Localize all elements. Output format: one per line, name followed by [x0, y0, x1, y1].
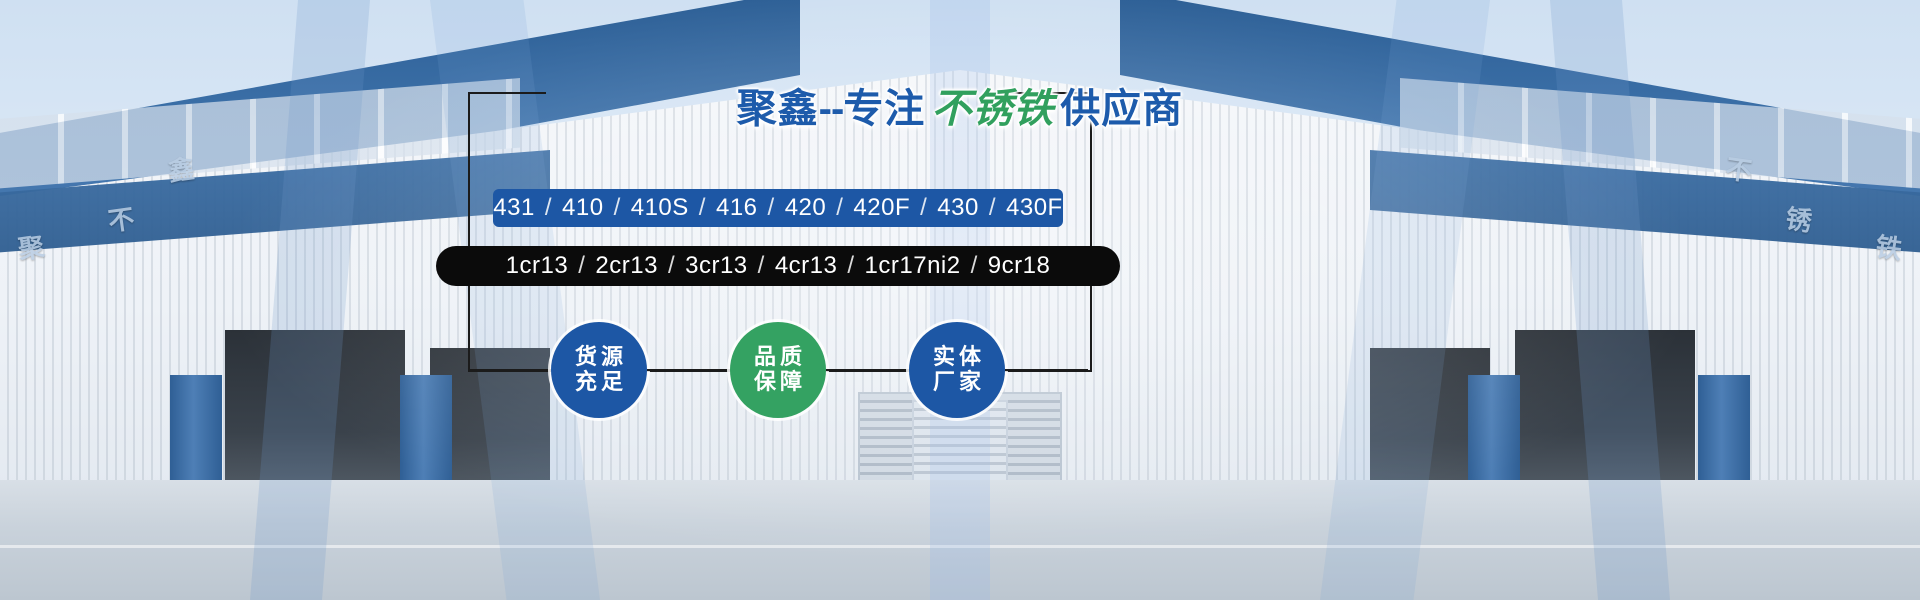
badge-real-factory[interactable]: 实体厂家 [909, 322, 1005, 418]
grade-item: 410S [631, 194, 689, 222]
grade-item: 430 [937, 194, 979, 222]
badge-line-2: 充足 [571, 370, 627, 395]
grades-bar: 431/410/410S/416/420/420F/430/430F [493, 189, 1063, 227]
badge-line-2: 厂家 [929, 370, 985, 395]
grade-item: 416 [716, 194, 758, 222]
alloys-bar: 1cr13/2cr13/3cr13/4cr13/1cr17ni2/9cr18 [436, 246, 1120, 286]
alloy-item: 9cr18 [988, 252, 1051, 280]
headline-dash: -- [819, 87, 844, 131]
separator: / [910, 194, 937, 222]
separator: / [568, 252, 595, 280]
headline-highlight: 不锈铁 [931, 87, 1054, 131]
badge-line-1: 品质 [750, 345, 806, 370]
badge-quality-guarantee[interactable]: 品质保障 [730, 322, 826, 418]
badge-line-1: 货源 [571, 345, 627, 370]
alloy-item: 1cr17ni2 [865, 252, 961, 280]
headline-focus: 专注 [843, 87, 925, 131]
badge-connector [647, 369, 730, 371]
separator: / [689, 194, 716, 222]
banner-content: 聚鑫--专注不锈铁供应商 431/410/410S/416/420/420F/4… [0, 0, 1920, 600]
separator: / [658, 252, 685, 280]
badge-ample-supply[interactable]: 货源充足 [551, 322, 647, 418]
alloy-item: 2cr13 [595, 252, 658, 280]
alloy-item: 4cr13 [775, 252, 838, 280]
alloy-item: 1cr13 [506, 252, 569, 280]
badge-line-2: 保障 [750, 370, 806, 395]
grade-item: 431 [493, 194, 535, 222]
separator: / [604, 194, 631, 222]
badge-connector [826, 369, 909, 371]
headline-brand: 聚鑫 [737, 87, 819, 131]
grade-item: 420F [853, 194, 910, 222]
promo-banner: 鑫 不 聚 不 锈 铁 聚鑫--专注不锈铁供应商 431/410/410S/41… [0, 0, 1920, 600]
grade-item: 430F [1006, 194, 1063, 222]
grade-item: 410 [562, 194, 604, 222]
separator: / [826, 194, 853, 222]
badge-connector-end [1005, 369, 1088, 371]
grade-item: 420 [785, 194, 827, 222]
badge-row: 货源充足品质保障实体厂家 [468, 310, 1088, 430]
badge-line-1: 实体 [929, 345, 985, 370]
separator: / [961, 252, 988, 280]
separator: / [758, 194, 785, 222]
separator: / [979, 194, 1006, 222]
separator: / [748, 252, 775, 280]
badge-connector-start [468, 369, 551, 371]
headline-supplier: 供应商 [1060, 87, 1183, 131]
separator: / [837, 252, 864, 280]
alloy-item: 3cr13 [685, 252, 748, 280]
banner-headline: 聚鑫--专注不锈铁供应商 [0, 76, 1920, 134]
separator: / [535, 194, 562, 222]
